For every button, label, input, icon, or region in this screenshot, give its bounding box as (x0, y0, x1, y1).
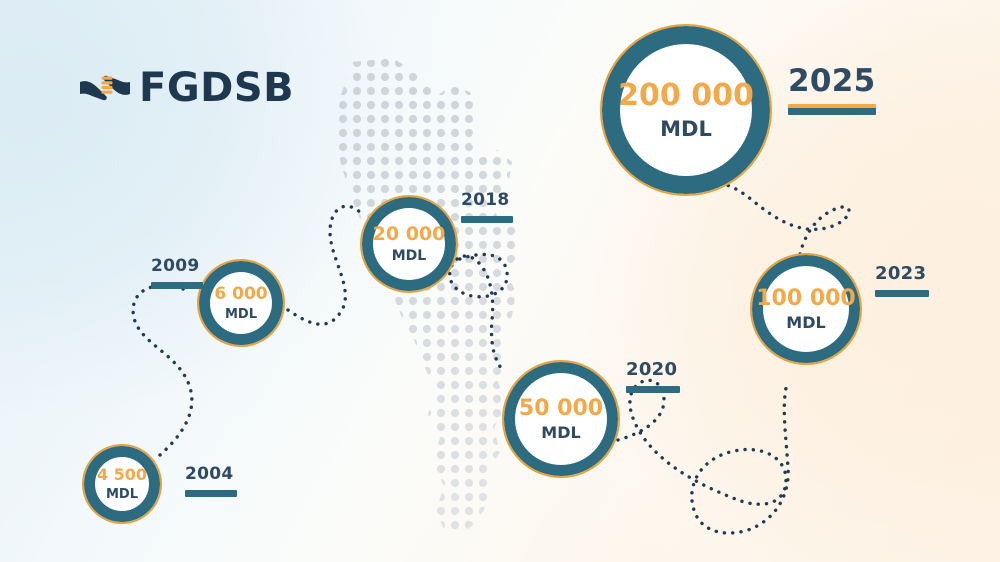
milestone-year-2004: 2004 (185, 466, 237, 497)
year-underline-2004 (185, 490, 237, 497)
milestone-node-2023[interactable]: 100 000 MDL (750, 253, 862, 365)
milestone-node-2025[interactable]: 200 000 MDL (600, 24, 772, 196)
milestone-currency-2004: MDL (106, 488, 138, 501)
connector-2004-2009 (133, 286, 192, 455)
connector-2023-2025 (700, 184, 849, 254)
milestone-node-2004[interactable]: 4 500 MDL (82, 444, 162, 524)
milestone-node-2018[interactable]: 20 000 MDL (360, 195, 458, 293)
milestone-year-2023: 2023 (875, 265, 929, 297)
milestone-year-2025: 2025 (788, 66, 876, 115)
year-label-2018: 2018 (461, 192, 513, 209)
infographic-canvas: FGDSB 4 500 MDL 2004 6 000 MDL 2009 20 0… (0, 0, 1000, 562)
milestone-currency-2025: MDL (660, 119, 712, 140)
milestone-year-2009: 2009 (151, 258, 203, 289)
milestone-currency-2023: MDL (786, 315, 825, 331)
milestone-currency-2009: MDL (225, 308, 257, 321)
milestone-amount-2025: 200 000 (618, 81, 754, 111)
year-underline-2025 (788, 104, 876, 115)
milestone-node-2020[interactable]: 50 000 MDL (502, 360, 620, 478)
year-label-2004: 2004 (185, 466, 237, 483)
milestone-node-2009[interactable]: 6 000 MDL (197, 259, 285, 347)
connector-2020-2023 (618, 380, 788, 533)
year-label-2023: 2023 (875, 265, 929, 283)
milestone-amount-2018: 20 000 (373, 225, 446, 244)
brand-name: FGDSB (139, 68, 294, 108)
year-label-2009: 2009 (151, 258, 203, 275)
milestone-year-2020: 2020 (626, 361, 680, 393)
year-underline-2018 (461, 216, 513, 223)
year-underline-2023 (875, 290, 929, 297)
brand-logo[interactable]: FGDSB (78, 68, 294, 108)
connector-2018-2020 (450, 254, 507, 372)
milestone-amount-2023: 100 000 (756, 288, 856, 310)
milestone-currency-2020: MDL (541, 425, 580, 441)
year-label-2025: 2025 (788, 66, 876, 97)
hands-holding-coins-icon (78, 68, 132, 108)
year-underline-2009 (151, 282, 203, 289)
year-label-2020: 2020 (626, 361, 680, 379)
milestone-amount-2009: 6 000 (214, 286, 267, 303)
milestone-amount-2020: 50 000 (519, 398, 603, 420)
milestone-currency-2018: MDL (392, 249, 426, 263)
connector-2009-2018 (288, 206, 362, 324)
milestone-year-2018: 2018 (461, 192, 513, 223)
milestone-amount-2004: 4 500 (97, 467, 147, 483)
year-underline-2020 (626, 386, 680, 393)
